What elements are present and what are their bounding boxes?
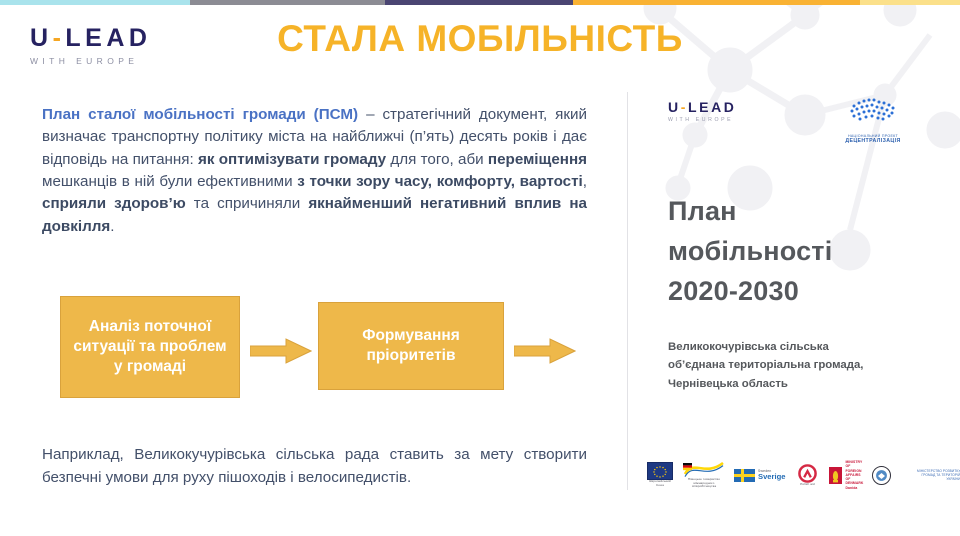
estonia-emblem-icon <box>872 466 891 485</box>
eu-flag-icon <box>647 462 673 480</box>
arrow-right-icon-1 <box>250 338 312 364</box>
document-subtitle-line-1: Великокочурівська сільська <box>668 338 960 356</box>
intro-b1: як оптимізувати громаду <box>198 151 386 168</box>
topbar-segment-cyan <box>0 0 190 5</box>
document-title-line-1: План <box>668 192 960 232</box>
sweden-flag-icon <box>734 469 755 482</box>
denmark-emblem-icon <box>829 467 842 484</box>
donor-logo-germany: Німецьке товариство міжнародного співроб… <box>683 461 725 490</box>
eu-stars-icon <box>648 463 672 479</box>
document-ulead-logo: U-LEAD WITH EUROPE <box>668 100 737 123</box>
process-flow-diagram: Аналіз поточної ситуації та проблем у гр… <box>60 296 620 398</box>
arrow-right-icon-2 <box>514 338 576 364</box>
document-subtitle: Великокочурівська сільська об’єднана тер… <box>668 338 960 393</box>
sweden-label-main: Sverige <box>758 473 785 481</box>
document-title-line-3: 2020-2030 <box>668 272 960 312</box>
denmark-label: MINISTRY OF FOREIGN AFFAIRS OF DENMARK D… <box>845 460 863 490</box>
top-color-bar <box>0 0 960 5</box>
document-cover-preview: U-LEAD WITH EUROPE <box>640 92 960 512</box>
denmark-crown-icon <box>829 467 842 484</box>
ministry-caption: МІНІСТЕРСТВО РОЗВИТКУ ГРОМАД ТА ТЕРИТОРІ… <box>906 469 960 481</box>
ukraine-map-icon <box>838 94 908 128</box>
intro-b4: сприяли здоров’ю <box>42 195 186 212</box>
topbar-segment-yellow <box>860 0 960 5</box>
panel-divider <box>627 92 628 490</box>
doc-ulead-dash: - <box>681 99 688 115</box>
intro-t4: , <box>583 173 587 190</box>
donor-logo-denmark: MINISTRY OF FOREIGN AFFAIRS OF DENMARK D… <box>829 460 863 490</box>
intro-text-block: План сталої мобільності громади (ПСМ) – … <box>42 104 587 238</box>
intro-t2: для того, аби <box>386 151 488 168</box>
donor-logo-poland: Polish aid <box>794 464 820 487</box>
donor-caption-germany: Німецьке товариство міжнародного співроб… <box>683 478 725 490</box>
denmark-caption: MINISTRY OF FOREIGN AFFAIRS OF DENMARK <box>845 460 863 485</box>
germany-giz-icon <box>683 461 725 478</box>
sweden-label: Sweden Sverige <box>758 469 785 481</box>
document-subtitle-line-2: об’єднана територіальна громада, <box>668 356 960 374</box>
slide: U-LEAD WITH EUROPE СТАЛА МОБІЛЬНІСТЬ Пла… <box>0 0 960 536</box>
donor-logo-estonia <box>872 466 891 485</box>
donor-logo-ministry-of-development: МІНІСТЕРСТВО РОЗВИТКУ ГРОМАД ТА ТЕРИТОРІ… <box>906 467 960 484</box>
document-title: План мобільності 2020-2030 <box>668 192 960 312</box>
estonia-lion-icon <box>873 467 890 484</box>
intro-t5: та спричиняли <box>186 195 309 212</box>
document-ulead-tagline: WITH EUROPE <box>668 118 737 123</box>
intro-t3: мешканців в ній були ефективними <box>42 173 297 190</box>
decentralization-logo: НАЦІОНАЛЬНИЙ ПРОЕКТ ДЕЦЕНТРАЛІЗАЦІЯ <box>838 94 908 145</box>
donor-logo-european-union: Європейський Союз <box>646 462 674 488</box>
page-title: СТАЛА МОБІЛЬНІСТЬ <box>0 17 960 61</box>
doc-ulead-u: U <box>668 99 681 115</box>
intro-b3: з точки зору часу, комфорту, вартості <box>297 173 582 190</box>
intro-lead: План сталої мобільності громади (ПСМ) <box>42 106 358 123</box>
intro-t6: . <box>110 218 114 235</box>
decentralization-caption-large: ДЕЦЕНТРАЛІЗАЦІЯ <box>838 138 908 144</box>
doc-ulead-lead: LEAD <box>688 99 737 115</box>
polish-aid-icon <box>798 464 817 483</box>
intro-b2: переміщення <box>488 151 587 168</box>
document-title-line-2: мобільності <box>668 232 960 272</box>
document-subtitle-line-3: Чернівецька область <box>668 375 960 393</box>
example-paragraph: Наприклад, Великокучурівська сільська ра… <box>42 444 587 490</box>
donor-caption-eu: Європейський Союз <box>646 480 674 488</box>
donor-caption-poland: Polish aid <box>794 483 820 487</box>
donor-logo-sweden: Sweden Sverige <box>734 469 785 482</box>
flow-box-priorities: Формування пріоритетів <box>318 302 504 390</box>
donor-logo-bar: Європейський Союз Німецьке товариство мі… <box>646 455 960 495</box>
intro-paragraph: План сталої мобільності громади (ПСМ) – … <box>42 104 587 238</box>
topbar-segment-orange <box>573 0 860 5</box>
topbar-segment-gray <box>190 0 385 5</box>
denmark-caption-2: Danida <box>845 486 857 490</box>
topbar-segment-purple <box>385 0 573 5</box>
document-cover-logos: U-LEAD WITH EUROPE <box>640 92 960 154</box>
document-ulead-wordmark: U-LEAD <box>668 100 737 114</box>
flow-box-analysis: Аналіз поточної ситуації та проблем у гр… <box>60 296 240 398</box>
